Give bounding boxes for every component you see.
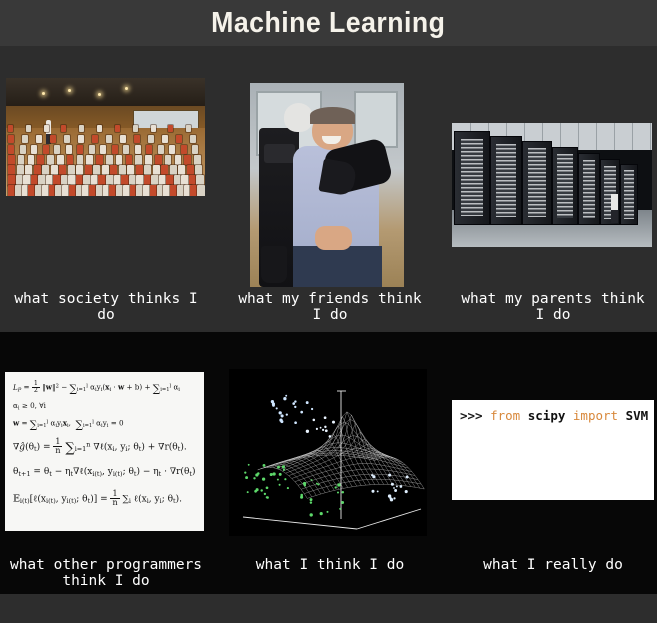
hall-seat	[85, 165, 92, 176]
hall-seat	[22, 135, 28, 143]
scatter-point	[248, 464, 250, 466]
scatter-point	[292, 402, 295, 405]
hall-seat	[126, 155, 133, 165]
hall-seat	[34, 165, 41, 176]
scatter-point	[247, 491, 249, 493]
scatter-point	[256, 488, 259, 491]
robot-hand	[261, 246, 287, 283]
hall-seat	[133, 125, 138, 132]
hall-seat	[190, 135, 196, 143]
scatter-point	[324, 426, 326, 428]
scatter-point	[400, 485, 403, 488]
scatter-point	[371, 474, 373, 476]
scatter-point	[303, 482, 306, 485]
hall-seat	[165, 155, 172, 165]
scatter-point	[311, 479, 313, 481]
scatter-point	[310, 513, 313, 516]
scatter-point	[329, 435, 332, 438]
hall-seat	[57, 155, 64, 165]
hall-seat	[44, 125, 49, 132]
hall-seat	[77, 155, 84, 165]
hall-seat	[170, 165, 177, 176]
scatter-point	[294, 400, 296, 402]
scatter-point	[311, 408, 313, 410]
caption-i-think: what I think I do	[224, 557, 436, 573]
hall-seat	[100, 145, 106, 154]
hall-seat	[18, 155, 25, 165]
hall-seat	[92, 135, 98, 143]
scatter-point	[277, 466, 280, 469]
scatter-point	[262, 477, 265, 480]
hall-seat	[8, 145, 14, 154]
scatter-point	[310, 501, 312, 503]
hall-seat	[127, 165, 134, 176]
keyword-import: import	[573, 408, 618, 423]
hall-seat	[110, 165, 117, 176]
hall-seat	[59, 165, 66, 176]
equation-line: LP = 12 ‖w‖2 − ∑i=1l αiyi(xi · w + b) + …	[13, 381, 196, 395]
scatter-point	[300, 494, 303, 497]
hall-seat	[181, 145, 187, 154]
hall-seat	[78, 135, 84, 143]
hall-seat	[184, 155, 191, 165]
panel-image-friends	[250, 83, 404, 287]
scatter-point	[266, 496, 268, 498]
hall-seat	[47, 155, 54, 165]
server-rack	[454, 131, 490, 225]
hall-seat	[148, 135, 154, 143]
server-room-technician	[611, 194, 618, 222]
hall-seat	[162, 135, 168, 143]
scatter-point	[281, 414, 284, 417]
panel-image-surface-plot	[229, 369, 427, 536]
title-bar: Machine Learning	[0, 0, 657, 46]
hall-seat	[178, 165, 185, 176]
keyword-from: from	[490, 408, 520, 423]
equation-line: w = ∑i=1l αiyixi, ∑i=1l αiyi = 0	[13, 419, 196, 431]
hall-seat	[8, 155, 15, 165]
hall-seat	[89, 145, 95, 154]
hall-seat	[86, 155, 93, 165]
scatter-point	[326, 511, 328, 513]
hall-seat	[8, 125, 13, 132]
scatter-point	[390, 498, 393, 501]
hall-seat	[20, 145, 26, 154]
panel-image-society	[6, 78, 205, 196]
scatter-point	[341, 501, 344, 504]
console-code-line: >>> from scipy import SVM	[460, 408, 648, 423]
hall-seat	[197, 185, 205, 196]
hall-seat	[8, 135, 14, 143]
scatter-point	[388, 474, 391, 477]
hall-seat	[192, 145, 198, 154]
module-name: scipy	[520, 408, 573, 423]
scatter-point	[337, 483, 340, 486]
scatter-point	[264, 493, 266, 495]
hall-seat	[119, 165, 126, 176]
hall-seat	[28, 155, 35, 165]
scatter-point	[279, 473, 282, 476]
panel-image-python-console: >>> from scipy import SVM	[452, 400, 654, 500]
hall-seat	[175, 155, 182, 165]
caption-society: what society thinks I do	[0, 291, 212, 323]
meme-image: Machine Learning what society thinks I d…	[0, 0, 657, 623]
equation-line: θt+1 = θt − ηt∇ℓ(xi(t), yi(t); θt) − ηt …	[13, 467, 196, 478]
scatter-point	[284, 478, 286, 480]
scatter-point	[255, 473, 258, 476]
hall-seat	[8, 165, 15, 176]
server-rack	[578, 153, 600, 224]
hall-seat	[25, 165, 32, 176]
scatter-point	[325, 429, 328, 432]
scatter-point	[313, 419, 316, 422]
scatter-point	[287, 487, 289, 489]
hall-seat	[76, 165, 83, 176]
hall-seat	[155, 155, 162, 165]
svm-surface-wireframe	[229, 369, 427, 536]
scatter-point	[286, 413, 288, 415]
scatter-point	[272, 402, 275, 405]
hall-seat	[187, 165, 194, 176]
scatter-point	[316, 428, 318, 430]
scatter-point	[393, 487, 395, 489]
equation-sheet: LP = 12 ‖w‖2 − ∑i=1l αiyi(xi · w + b) + …	[5, 372, 204, 531]
server-rack	[552, 147, 578, 225]
hall-seat	[169, 145, 175, 154]
scatter-point	[253, 477, 255, 479]
footer-bar	[0, 594, 657, 623]
scatter-point	[320, 427, 322, 429]
hall-seat	[195, 165, 202, 176]
panel-image-equations: LP = 12 ‖w‖2 − ∑i=1l αiyi(xi · w + b) + …	[5, 372, 204, 531]
scatter-point	[322, 429, 324, 431]
scatter-point	[300, 411, 303, 414]
ceiling-lamp-icon	[98, 93, 101, 96]
hall-seat	[102, 165, 109, 176]
scatter-point	[377, 490, 379, 492]
hall-seat	[42, 165, 49, 176]
hall-seat	[54, 145, 60, 154]
hall-seat	[112, 145, 118, 154]
scatter-point	[306, 430, 309, 433]
hall-seat	[66, 145, 72, 154]
scatter-point	[339, 508, 341, 510]
scatter-point	[285, 395, 287, 397]
mesh-line	[298, 469, 415, 485]
hall-seat	[134, 135, 140, 143]
hall-seat-grid	[6, 123, 205, 196]
scatter-point	[320, 512, 323, 515]
hall-seat	[36, 135, 42, 143]
server-rack	[490, 136, 522, 225]
scatter-point	[263, 464, 266, 467]
hall-seat	[97, 125, 102, 132]
caption-friends: what my friends think I do	[224, 291, 436, 323]
scatter-point	[283, 397, 286, 400]
hall-ceiling	[6, 78, 205, 109]
scatter-point	[283, 469, 285, 471]
mesh-line	[279, 412, 396, 470]
scatter-point	[396, 485, 398, 487]
scatter-point	[371, 490, 374, 493]
scatter-point	[244, 471, 246, 473]
mesh-line	[304, 479, 421, 494]
hall-seat	[168, 125, 173, 132]
scatter-point	[277, 479, 279, 481]
caption-other-programmers: what other programmers think I do	[0, 557, 212, 589]
hall-seat	[67, 155, 74, 165]
hall-seat	[136, 165, 143, 176]
hall-seat	[123, 145, 129, 154]
hall-seat	[146, 145, 152, 154]
scatter-point	[324, 416, 327, 419]
hall-seat	[68, 165, 75, 176]
robot-head	[284, 103, 313, 132]
caption-i-really-do: what I really do	[447, 557, 657, 573]
hall-seat	[158, 145, 164, 154]
hall-seat	[176, 135, 182, 143]
equation-line: ∇ĝ(θt) = 1n ∑i=1n ∇ℓ(xi, yi; θt) + ∇r(θt…	[13, 438, 196, 456]
scatter-point	[279, 411, 282, 414]
hall-seat	[145, 155, 152, 165]
equation-line: 𝔼i(t)[ℓ(xi(t), yi(t); θt)] = 1n ∑i ℓ(xi,…	[13, 490, 196, 507]
hall-seat	[31, 145, 37, 154]
hall-seat	[51, 165, 58, 176]
hall-seat	[115, 125, 120, 132]
server-rack	[620, 164, 638, 224]
hall-seat	[17, 165, 24, 176]
scatter-point	[405, 490, 408, 493]
scatter-point	[306, 401, 309, 404]
hall-seat	[161, 165, 168, 176]
hall-seat	[151, 125, 156, 132]
hall-seat	[153, 165, 160, 176]
scatter-point	[332, 421, 335, 424]
scatter-point	[270, 473, 273, 476]
mesh-line	[276, 422, 393, 468]
robot-joint	[264, 144, 295, 162]
scatter-point	[272, 472, 275, 475]
hall-seat	[135, 155, 142, 165]
scatter-point	[279, 484, 281, 486]
scatter-point	[317, 483, 319, 485]
hall-seat	[43, 145, 49, 154]
scatter-point	[279, 419, 282, 422]
scatter-point	[388, 494, 391, 497]
hall-seat	[194, 155, 201, 165]
hall-seat	[61, 125, 66, 132]
scatter-point	[266, 486, 269, 489]
scatter-point	[406, 476, 409, 479]
imported-symbol: SVM	[618, 408, 648, 423]
caption-parents: what my parents think I do	[447, 291, 657, 323]
hall-seat	[186, 125, 191, 132]
scatter-point	[342, 491, 344, 493]
mesh-line	[267, 464, 317, 495]
hall-seat	[64, 135, 70, 143]
panel-image-parents	[452, 123, 652, 247]
console-prompt: >>>	[460, 408, 490, 423]
scatter-point	[394, 489, 397, 492]
person-clasped-hands	[315, 226, 352, 250]
hall-seat	[93, 165, 100, 176]
scatter-point	[294, 421, 297, 424]
scatter-point	[276, 407, 278, 409]
hall-seat	[96, 155, 103, 165]
hall-seat	[116, 155, 123, 165]
hall-seat	[120, 135, 126, 143]
hall-seat	[26, 125, 31, 132]
equation-line: αi ≥ 0, ∀i	[13, 402, 196, 412]
scatter-point	[337, 491, 339, 493]
hall-seat	[135, 145, 141, 154]
ceiling-lamp-icon	[42, 92, 45, 95]
scatter-point	[393, 497, 395, 499]
ceiling-lamp-icon	[68, 89, 71, 92]
page-title: Machine Learning	[211, 7, 445, 40]
scatter-point	[335, 486, 337, 488]
hall-seat	[144, 165, 151, 176]
scatter-point	[282, 465, 285, 468]
hall-seat	[106, 155, 113, 165]
server-rack	[522, 141, 552, 225]
hall-seat	[77, 145, 83, 154]
hall-seat	[50, 135, 56, 143]
hall-seat	[106, 135, 112, 143]
scatter-point	[391, 483, 394, 486]
person-jeans	[293, 246, 382, 287]
hall-seat	[37, 155, 44, 165]
hall-seat	[79, 125, 84, 132]
scatter-point	[294, 406, 296, 408]
scatter-point	[245, 476, 248, 479]
scatter-point	[260, 489, 262, 491]
person-hair	[310, 107, 355, 123]
scatter-point	[310, 498, 313, 501]
mesh-line	[262, 466, 312, 497]
